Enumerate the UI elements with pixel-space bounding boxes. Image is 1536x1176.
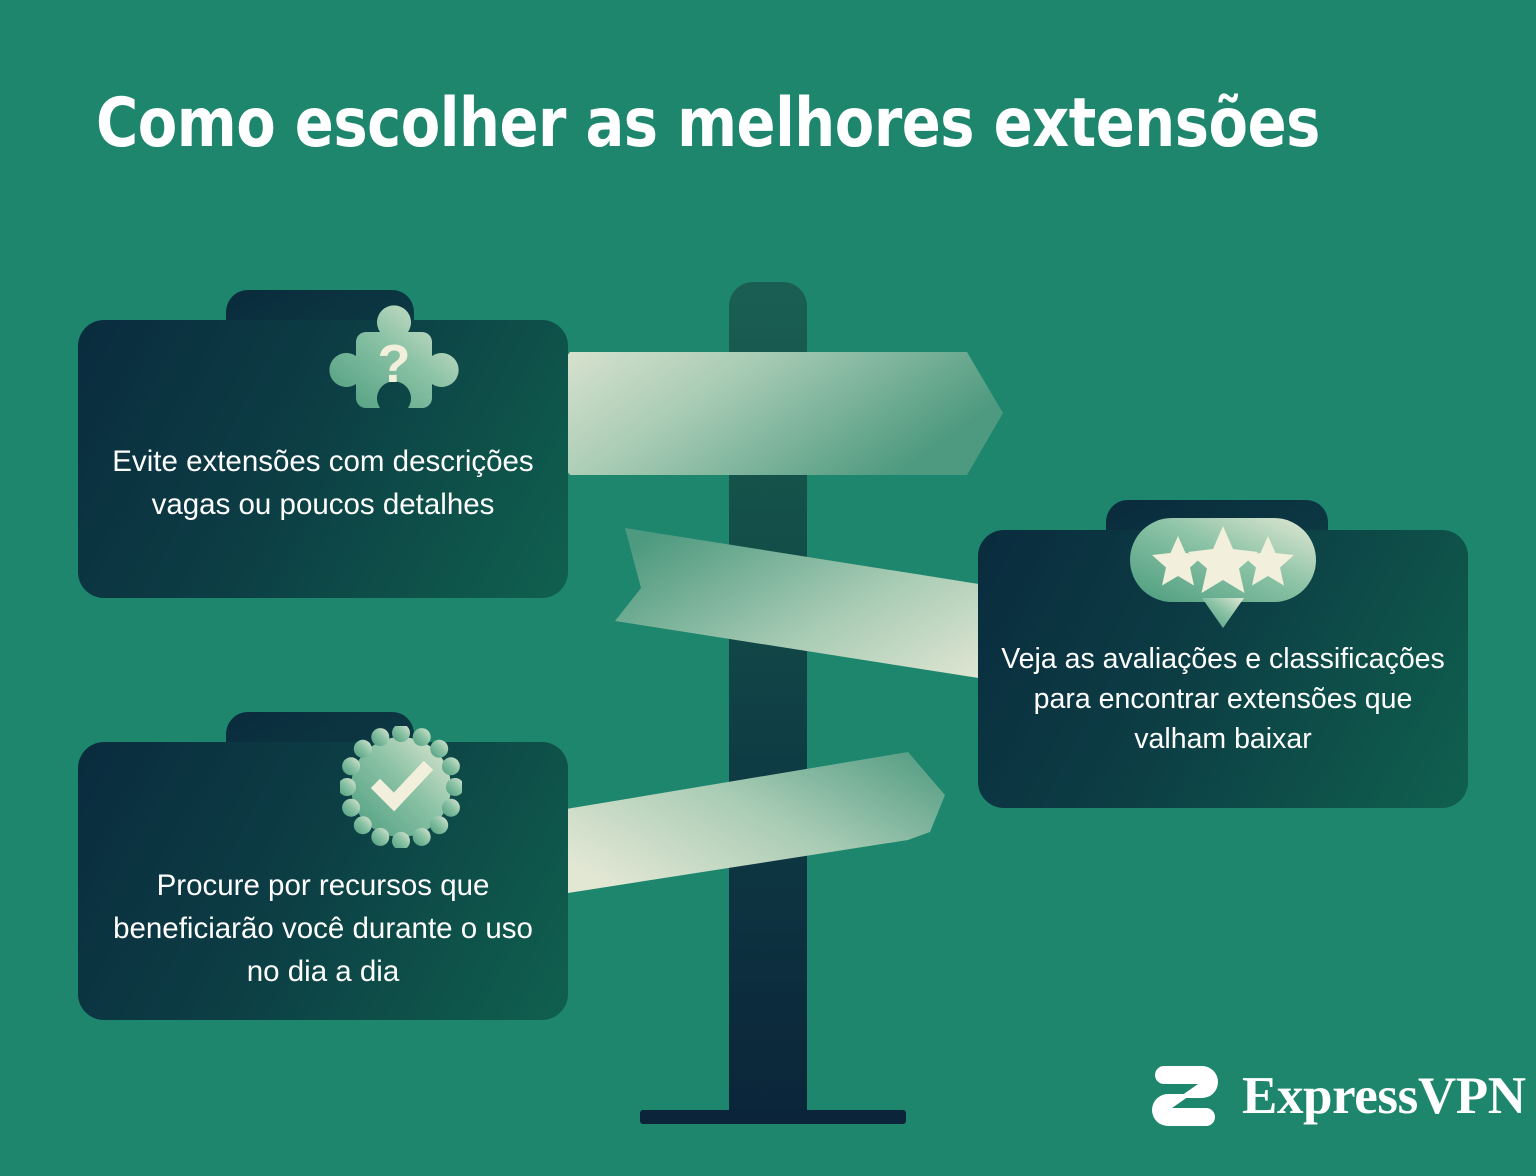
- arrow-sign-left-top: [521, 352, 1006, 475]
- card-useful-features: Procure por recursos que beneficiarão vo…: [78, 712, 568, 1020]
- verified-check-badge-icon: [340, 726, 462, 848]
- card-text: Procure por recursos que beneficiarão vo…: [78, 864, 568, 993]
- expressvpn-wordmark: ExpressVPN: [1242, 1070, 1526, 1123]
- card-avoid-vague: ? Evite extensões com descrições vagas o…: [78, 290, 568, 598]
- expressvpn-logo: ExpressVPN: [1144, 1058, 1526, 1134]
- puzzle-question-glyph: ?: [378, 334, 411, 394]
- expressvpn-e-mark-icon: [1144, 1058, 1226, 1134]
- card-text: Evite extensões com descrições vagas ou …: [78, 440, 568, 526]
- puzzle-question-icon: ?: [324, 304, 464, 432]
- card-check-reviews: Veja as avaliações e classificações para…: [978, 500, 1468, 808]
- card-text: Veja as avaliações e classificações para…: [978, 640, 1468, 760]
- speech-bubble-stars-icon: [1130, 518, 1316, 628]
- arrow-sign-left-bottom: [522, 752, 945, 893]
- page-title: Como escolher as melhores extensões: [96, 88, 1374, 159]
- infographic-canvas: Como escolher as melhores extensões: [0, 0, 1536, 1176]
